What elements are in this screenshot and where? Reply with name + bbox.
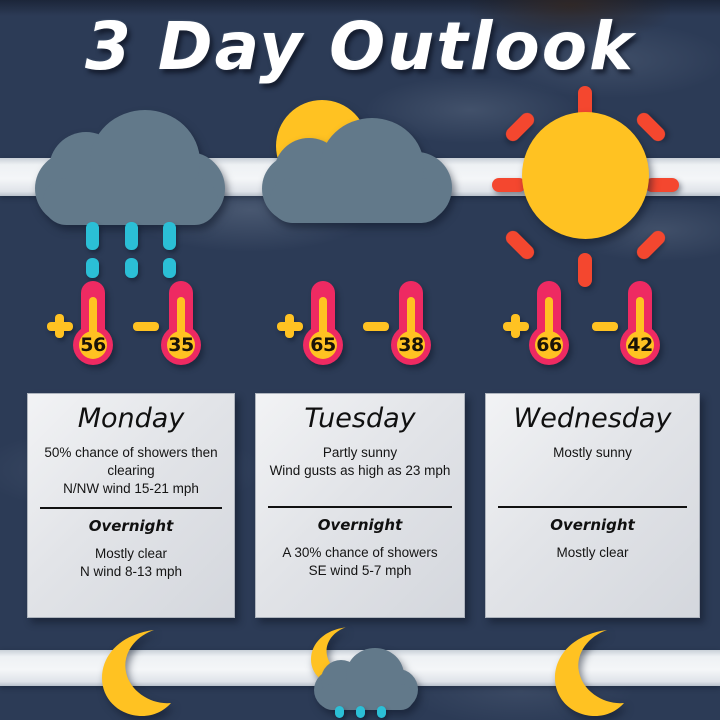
high-temp-thermometer-monday: 56 [70,281,116,381]
day-name-wednesday: Wednesday [494,402,691,436]
forecast-card-tuesday: Tuesday Partly sunny Wind gusts as high … [255,393,465,618]
day-forecast-wednesday: Mostly sunny [494,444,691,462]
forecast-line: N/NW wind 15-21 mph [36,480,226,498]
sun-ray [492,178,526,192]
day-name-monday: Monday [36,402,226,436]
forecast-line: Mostly sunny [494,444,691,462]
overnight-label-tuesday: Overnight [264,515,456,535]
low-temp-minus-sign-tuesday [363,313,389,339]
crescent-moon-icon [545,628,631,718]
sun-ray [634,110,668,144]
rain-drop [163,258,176,278]
sun-ray [503,228,537,262]
forecast-line: SE wind 5-7 mph [264,562,456,580]
low-temp-thermometer-monday: 35 [158,281,204,381]
low-temp-thermometer-wednesday: 42 [617,281,663,381]
forecast-line: N wind 8-13 mph [36,563,226,581]
forecast-line: A 30% chance of showers [264,544,456,562]
low-temp-thermometer-tuesday: 38 [388,281,434,381]
sun-ray [503,110,537,144]
high-temp-value-monday: 56 [73,331,113,359]
low-temp-value-wednesday: 42 [620,331,660,359]
page-title: 3 Day Outlook [0,8,720,86]
rain-drop [356,706,365,718]
high-temp-thermometer-tuesday: 65 [300,281,346,381]
rain-drop [125,258,138,278]
crescent-moon-icon [92,628,178,718]
forecast-line: Wind gusts as high as 23 mph [264,462,456,480]
forecast-card-monday: Monday 50% chance of showers then cleari… [27,393,235,618]
forecast-line: clearing [36,462,226,480]
high-temp-value-wednesday: 66 [529,331,569,359]
forecast-card-wednesday: Wednesday Mostly sunny Overnight Mostly … [485,393,700,618]
night-forecast-monday: Mostly clear N wind 8-13 mph [36,545,226,581]
day-forecast-tuesday: Partly sunny Wind gusts as high as 23 mp… [264,444,456,480]
forecast-line: 50% chance of showers then [36,444,226,462]
card-divider [498,506,687,508]
rain-drop [86,222,99,250]
rain-drop [163,222,176,250]
sun-ray [634,228,668,262]
rain-cloud-icon [35,110,225,225]
overnight-label-monday: Overnight [36,516,226,536]
forecast-line: Partly sunny [264,444,456,462]
rain-drop [125,222,138,250]
rain-drop [86,258,99,278]
sun-ray [645,178,679,192]
forecast-line: Mostly clear [36,545,226,563]
overnight-label-wednesday: Overnight [494,515,691,535]
low-temp-value-monday: 35 [161,331,201,359]
day-name-tuesday: Tuesday [264,402,456,436]
forecast-line: Mostly clear [494,544,691,562]
day-forecast-monday: 50% chance of showers then clearing N/NW… [36,444,226,498]
sun-icon [522,112,649,239]
high-temp-thermometer-wednesday: 66 [526,281,572,381]
night-rain-cloud-icon [314,648,418,710]
night-forecast-wednesday: Mostly clear [494,544,691,562]
partly-sunny-icon [262,118,452,223]
card-divider [268,506,452,508]
weather-outlook-graphic: 3 Day Outlook 56 35 65 38 6 [0,0,720,720]
low-temp-minus-sign-wednesday [592,313,618,339]
rain-drop [335,706,344,718]
low-temp-minus-sign-monday [133,313,159,339]
sun-ray [578,253,592,287]
night-forecast-tuesday: A 30% chance of showers SE wind 5-7 mph [264,544,456,580]
rain-drop [377,706,386,718]
high-temp-value-tuesday: 65 [303,331,343,359]
low-temp-value-tuesday: 38 [391,331,431,359]
card-divider [40,507,222,509]
